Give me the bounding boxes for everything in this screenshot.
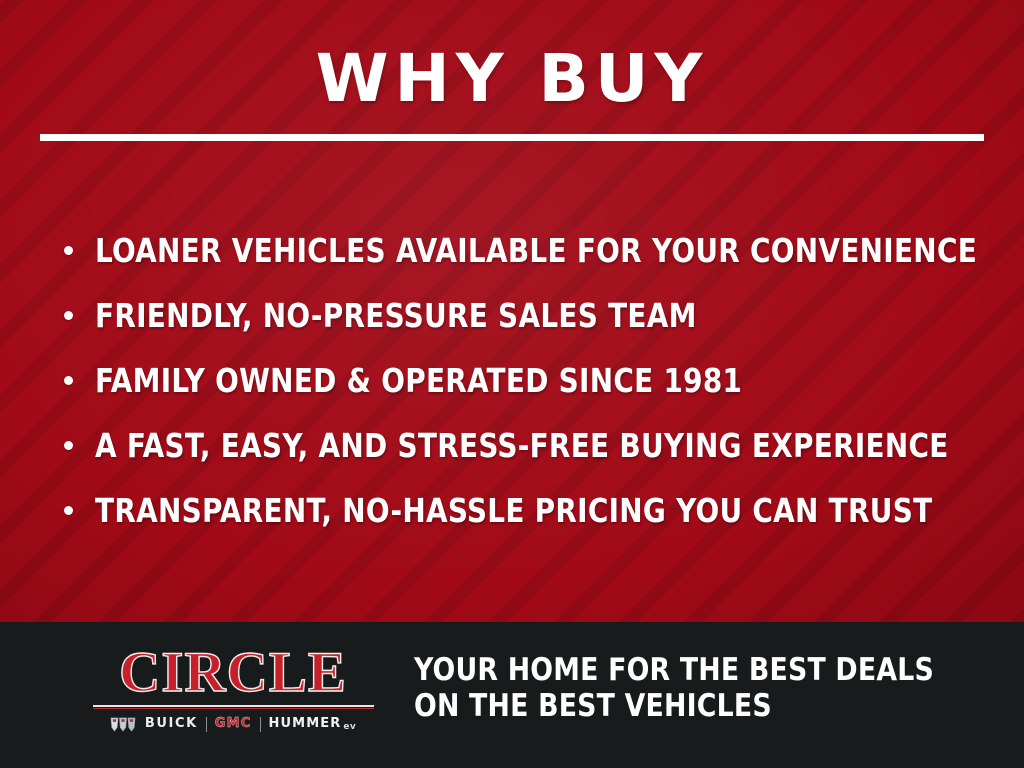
benefits-list: LOANER VEHICLES AVAILABLE FOR YOUR CONVE… xyxy=(64,218,984,543)
tagline-line-2: ON THE BEST VEHICLES xyxy=(414,688,980,724)
footer-tagline: YOUR HOME FOR THE BEST DEALS ON THE BEST… xyxy=(414,652,980,724)
buick-tri-shield-icon xyxy=(110,717,136,732)
bullet-dot-icon xyxy=(64,311,73,320)
brand-label-gmc: GMC xyxy=(215,717,252,731)
dealer-wordmark: CIRCLE xyxy=(88,644,378,702)
list-item: A FAST, EASY, AND STRESS-FREE BUYING EXP… xyxy=(64,413,984,478)
list-item-label: FAMILY OWNED & OPERATED SINCE 1981 xyxy=(95,361,742,400)
title-underline-rule xyxy=(40,134,984,141)
list-item-label: FRIENDLY, NO-PRESSURE SALES TEAM xyxy=(95,296,697,335)
brand-label-buick: BUICK xyxy=(145,717,198,731)
tagline-line-1: YOUR HOME FOR THE BEST DEALS xyxy=(414,652,980,688)
brand-divider xyxy=(206,717,207,732)
list-item: FRIENDLY, NO-PRESSURE SALES TEAM xyxy=(64,283,984,348)
list-item: LOANER VEHICLES AVAILABLE FOR YOUR CONVE… xyxy=(64,218,984,283)
logo-rule-lower xyxy=(93,708,374,709)
list-item-label: TRANSPARENT, NO-HASSLE PRICING YOU CAN T… xyxy=(95,491,932,530)
list-item-label: LOANER VEHICLES AVAILABLE FOR YOUR CONVE… xyxy=(95,231,977,270)
list-item-label: A FAST, EASY, AND STRESS-FREE BUYING EXP… xyxy=(95,426,949,465)
bullet-dot-icon xyxy=(64,441,73,450)
brand-label-hummer-ev-suffix: ev xyxy=(343,722,356,732)
list-item: FAMILY OWNED & OPERATED SINCE 1981 xyxy=(64,348,984,413)
bullet-dot-icon xyxy=(64,246,73,255)
brand-label-hummer: HUMMER xyxy=(269,717,342,731)
bullet-dot-icon xyxy=(64,506,73,515)
page-title: WHY BUY xyxy=(0,44,1024,114)
bullet-dot-icon xyxy=(64,376,73,385)
brand-strip: BUICK GMC HUMMER ev xyxy=(88,715,378,733)
dealer-logo: CIRCLE BUICK GMC xyxy=(88,644,378,733)
logo-rule-upper xyxy=(93,705,374,707)
list-item: TRANSPARENT, NO-HASSLE PRICING YOU CAN T… xyxy=(64,478,984,543)
why-buy-slide: WHY BUY LOANER VEHICLES AVAILABLE FOR YO… xyxy=(0,0,1024,768)
brand-divider xyxy=(260,717,261,732)
